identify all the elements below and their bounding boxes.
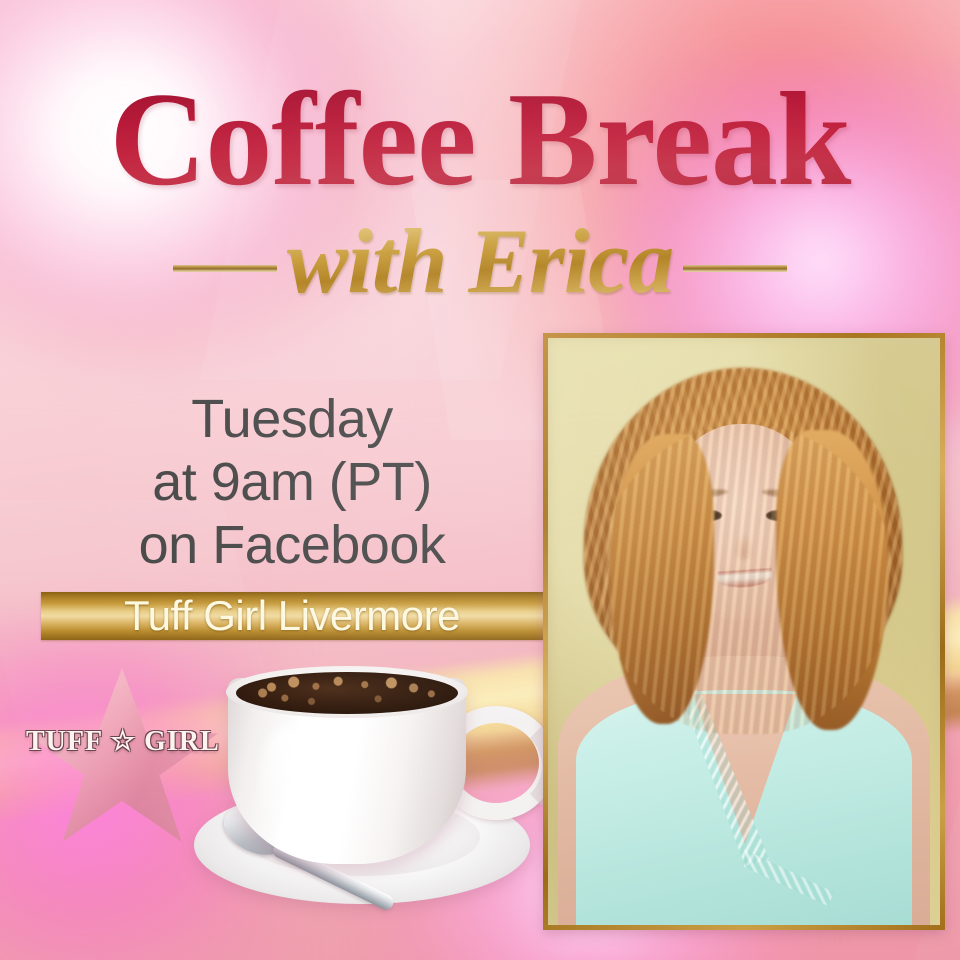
cup-highlight (260, 726, 318, 838)
page-name-label: Tuff Girl Livermore (124, 595, 460, 637)
portrait-hair-curls (600, 424, 892, 734)
subtitle-script: with Erica (283, 215, 677, 321)
promo-poster: Coffee Break with Erica Tuesday at 9am (… (0, 0, 960, 960)
coffee-crema-bubbles (236, 672, 458, 714)
event-time: at 9am (PT) (41, 451, 543, 514)
gold-rule-left-icon (173, 265, 277, 272)
host-portrait (543, 333, 945, 930)
event-platform: on Facebook (41, 514, 543, 577)
event-details: Tuesday at 9am (PT) on Facebook (41, 388, 543, 578)
coffee-cup-illustration (186, 648, 542, 916)
gold-rule-right-icon (683, 265, 787, 272)
event-day: Tuesday (41, 388, 543, 451)
page-name-bar[interactable]: Tuff Girl Livermore (41, 592, 543, 640)
subtitle-row: with Erica (0, 215, 960, 321)
page-title: Coffee Break (0, 72, 960, 206)
